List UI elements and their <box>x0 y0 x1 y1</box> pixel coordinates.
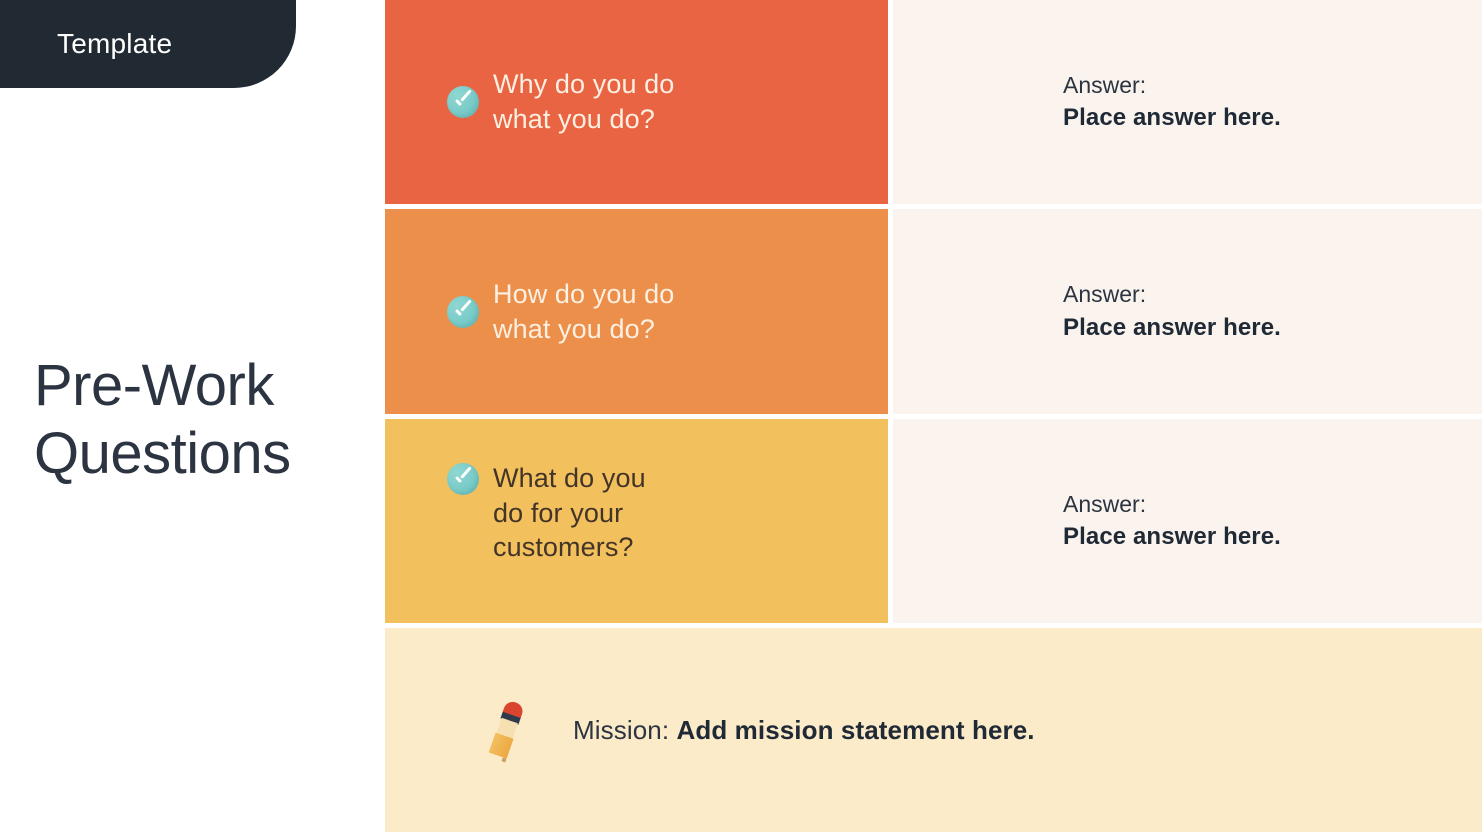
pencil-paint <box>489 733 514 759</box>
answer-label-2: Answer: <box>1063 278 1482 311</box>
answer-value-3[interactable]: Place answer here. <box>1063 520 1482 554</box>
template-badge: Template <box>0 0 296 88</box>
question-line-2: do for your <box>493 498 623 528</box>
question-cell-2: How do you do what you do? <box>385 209 888 414</box>
table-row: What do you do for your customers? Answe… <box>385 419 1482 628</box>
mission-label: Mission: <box>573 715 669 745</box>
question-cell-1: Why do you do what you do? <box>385 0 888 204</box>
question-line-1: How do you do <box>493 279 674 309</box>
table-row: How do you do what you do? Answer: Place… <box>385 209 1482 419</box>
check-circle-icon <box>447 86 479 118</box>
answer-cell-2[interactable]: Answer: Place answer here. <box>888 209 1482 414</box>
answer-cell-3[interactable]: Answer: Place answer here. <box>888 419 1482 623</box>
page-title-line-1: Pre-Work <box>34 352 374 420</box>
answer-cell-1[interactable]: Answer: Place answer here. <box>888 0 1482 204</box>
page-title-line-2: Questions <box>34 420 374 488</box>
pencil-body <box>488 699 525 760</box>
slide-canvas: Template Pre-Work Questions Why do you d… <box>0 0 1482 832</box>
question-text-2: How do you do what you do? <box>493 277 674 346</box>
answer-label-3: Answer: <box>1063 488 1482 521</box>
answer-label-1: Answer: <box>1063 69 1482 102</box>
question-line-1: Why do you do <box>493 69 674 99</box>
template-badge-label: Template <box>0 28 172 60</box>
answer-value-2[interactable]: Place answer here. <box>1063 311 1482 345</box>
answer-value-1[interactable]: Place answer here. <box>1063 101 1482 135</box>
questions-table: Why do you do what you do? Answer: Place… <box>385 0 1482 832</box>
question-text-3: What do you do for your customers? <box>493 461 646 565</box>
question-text-1: Why do you do what you do? <box>493 67 674 136</box>
check-circle-icon <box>447 296 479 328</box>
check-circle-icon <box>447 463 479 495</box>
question-line-2: what you do? <box>493 104 655 134</box>
table-row: Why do you do what you do? Answer: Place… <box>385 0 1482 209</box>
question-line-2: what you do? <box>493 314 655 344</box>
pencil-icon <box>489 695 525 765</box>
question-line-3: customers? <box>493 532 634 562</box>
page-title: Pre-Work Questions <box>34 352 374 489</box>
mission-text: Mission: Add mission statement here. <box>573 715 1035 746</box>
question-line-1: What do you <box>493 463 646 493</box>
mission-value[interactable]: Add mission statement here. <box>676 715 1034 745</box>
question-cell-3: What do you do for your customers? <box>385 419 888 623</box>
mission-band: Mission: Add mission statement here. <box>385 628 1482 832</box>
pencil-tip <box>501 757 506 762</box>
